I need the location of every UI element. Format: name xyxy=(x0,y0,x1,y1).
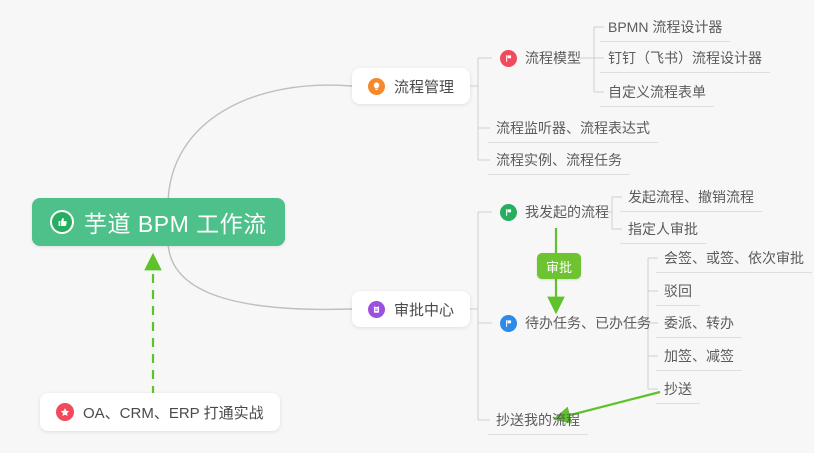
node-cc[interactable]: 抄送 xyxy=(656,374,700,404)
root-label: 芋道 BPM 工作流 xyxy=(84,205,267,239)
lightbulb-icon xyxy=(368,78,385,95)
node-listener-expression[interactable]: 流程监听器、流程表达式 xyxy=(488,113,658,143)
node-label: 自定义流程表单 xyxy=(608,82,706,102)
branch-label: 流程管理 xyxy=(394,76,454,97)
node-dingtalk-feishu-designer[interactable]: 钉钉（飞书）流程设计器 xyxy=(600,43,770,73)
node-reject[interactable]: 驳回 xyxy=(656,276,700,306)
node-label: 抄送我的流程 xyxy=(496,410,580,430)
clipboard-icon xyxy=(368,301,385,318)
node-label: 抄送 xyxy=(664,379,692,399)
node-label: 流程模型 xyxy=(525,48,581,68)
node-label: 我发起的流程 xyxy=(525,202,609,222)
node-start-cancel-process[interactable]: 发起流程、撤销流程 xyxy=(620,182,762,212)
node-label: 待办任务、已办任务 xyxy=(525,313,651,333)
node-label: 流程监听器、流程表达式 xyxy=(496,118,650,138)
node-todo-done-tasks[interactable]: 待办任务、已办任务 xyxy=(492,308,659,338)
flag-icon xyxy=(500,204,517,221)
node-my-initiated-process[interactable]: 我发起的流程 xyxy=(492,197,617,227)
node-process-model[interactable]: 流程模型 xyxy=(492,43,589,73)
flag-icon xyxy=(500,50,517,67)
node-label: 驳回 xyxy=(664,281,692,301)
node-add-remove-sign[interactable]: 加签、减签 xyxy=(656,341,742,371)
node-label: 委派、转办 xyxy=(664,313,734,333)
branch-approval-center[interactable]: 审批中心 xyxy=(352,291,470,327)
thumbs-up-icon xyxy=(50,210,74,234)
flag-icon xyxy=(500,315,517,332)
node-bpmn-designer[interactable]: BPMN 流程设计器 xyxy=(600,12,730,42)
star-icon xyxy=(56,403,74,421)
callout-label: 审批 xyxy=(546,257,572,276)
node-oa-crm-erp[interactable]: OA、CRM、ERP 打通实战 xyxy=(40,393,280,431)
branch-process-management[interactable]: 流程管理 xyxy=(352,68,470,104)
node-label: BPMN 流程设计器 xyxy=(608,17,722,37)
node-custom-process-form[interactable]: 自定义流程表单 xyxy=(600,77,714,107)
node-cc-to-me-process[interactable]: 抄送我的流程 xyxy=(488,405,588,435)
wire-root-to-process-management xyxy=(168,85,352,206)
branch-label: 审批中心 xyxy=(394,299,454,320)
node-label: 流程实例、流程任务 xyxy=(496,150,622,170)
mindmap-canvas: 芋道 BPM 工作流 流程管理 流程模型 BPMN 流程设计器 钉钉（飞书）流程… xyxy=(0,0,814,453)
node-label: 会签、或签、依次审批 xyxy=(664,248,804,268)
node-instance-task[interactable]: 流程实例、流程任务 xyxy=(488,145,630,175)
root-node[interactable]: 芋道 BPM 工作流 xyxy=(32,198,285,246)
callout-approval-badge[interactable]: 审批 xyxy=(537,253,581,279)
node-label: 加签、减签 xyxy=(664,346,734,366)
node-label: 指定人审批 xyxy=(628,219,698,239)
wire-root-to-approval-center xyxy=(168,240,352,309)
node-label: 钉钉（飞书）流程设计器 xyxy=(608,48,762,68)
node-countersign-or-sequential[interactable]: 会签、或签、依次审批 xyxy=(656,243,812,273)
node-assignee-approval[interactable]: 指定人审批 xyxy=(620,214,706,244)
node-delegate-transfer[interactable]: 委派、转办 xyxy=(656,308,742,338)
node-label: 发起流程、撤销流程 xyxy=(628,187,754,207)
node-label: OA、CRM、ERP 打通实战 xyxy=(83,402,264,423)
